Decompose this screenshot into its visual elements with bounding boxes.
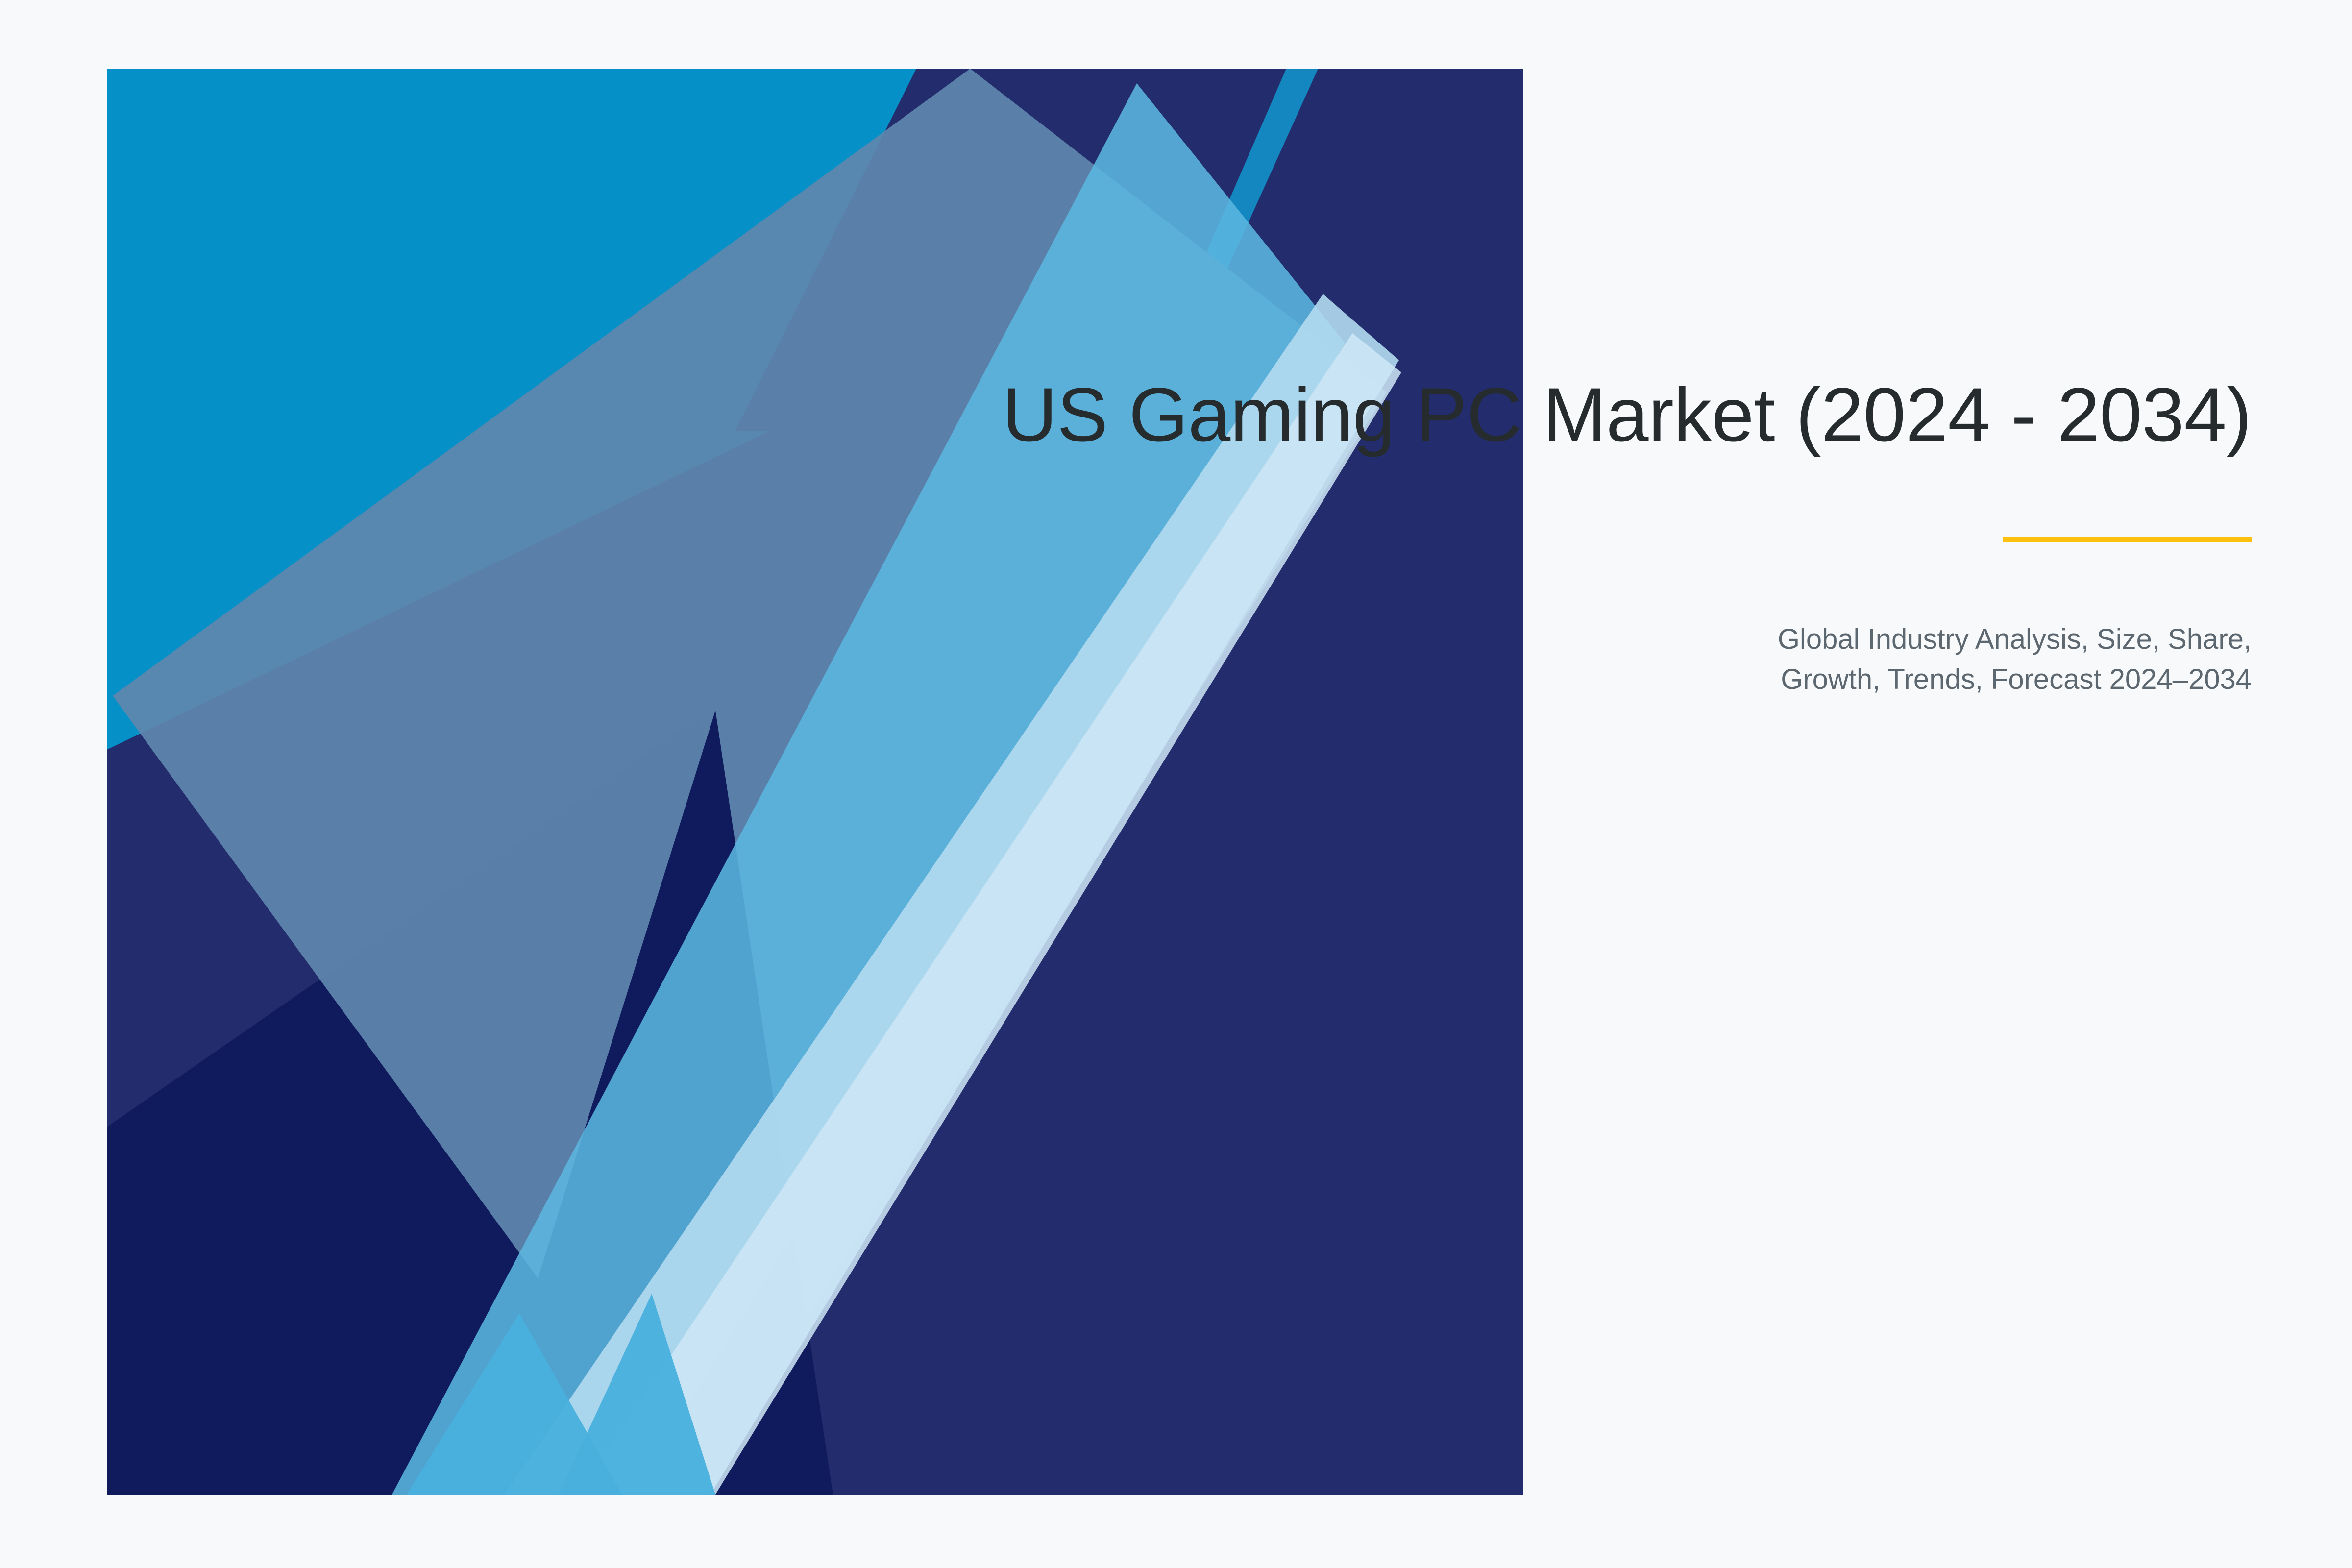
page-subtitle: Global Industry Analysis, Size, Share, G… [1727,619,2252,700]
abstract-geometric-cover-graphic [0,0,2352,1568]
slide-canvas: US Gaming PC Market (2024 - 2034) Global… [0,0,2352,1568]
title-divider [2003,537,2252,542]
title-block: US Gaming PC Market (2024 - 2034) Global… [833,372,2252,700]
page-title: US Gaming PC Market (2024 - 2034) [833,372,2252,458]
